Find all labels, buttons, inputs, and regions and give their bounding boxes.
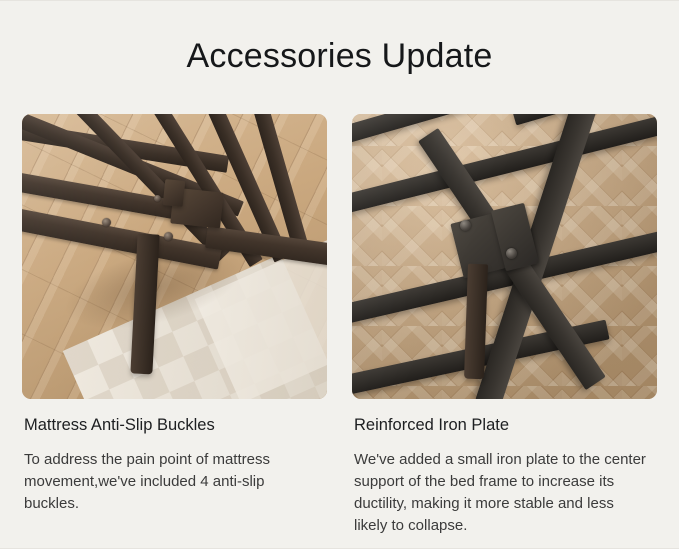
center-support-leg: [464, 264, 488, 380]
product-photo-anti-slip-buckles[interactable]: [22, 114, 327, 399]
product-photo-reinforced-iron-plate[interactable]: [352, 114, 657, 399]
panel-mattress-anti-slip-buckles: Mattress Anti-Slip Buckles To address th…: [22, 114, 327, 538]
bracket-screw: [102, 218, 111, 227]
caption-title-reinforced-iron-plate: Reinforced Iron Plate: [354, 416, 657, 436]
bracket-screw: [164, 232, 173, 241]
caption-body-reinforced-iron-plate: We've added a small iron plate to the ce…: [354, 449, 646, 538]
accessories-update-page: Accessories Update: [0, 0, 679, 549]
plate-screw: [460, 220, 471, 231]
caption-title-anti-slip-buckles: Mattress Anti-Slip Buckles: [24, 416, 327, 436]
bracket-screw: [154, 195, 161, 202]
plate-screw: [506, 248, 517, 259]
panel-row: Mattress Anti-Slip Buckles To address th…: [22, 114, 657, 538]
panel-reinforced-iron-plate: Reinforced Iron Plate We've added a smal…: [352, 114, 657, 538]
anti-slip-buckle-tab: [163, 179, 186, 207]
caption-body-anti-slip-buckles: To address the pain point of mattress mo…: [24, 449, 316, 516]
page-title: Accessories Update: [0, 39, 679, 73]
